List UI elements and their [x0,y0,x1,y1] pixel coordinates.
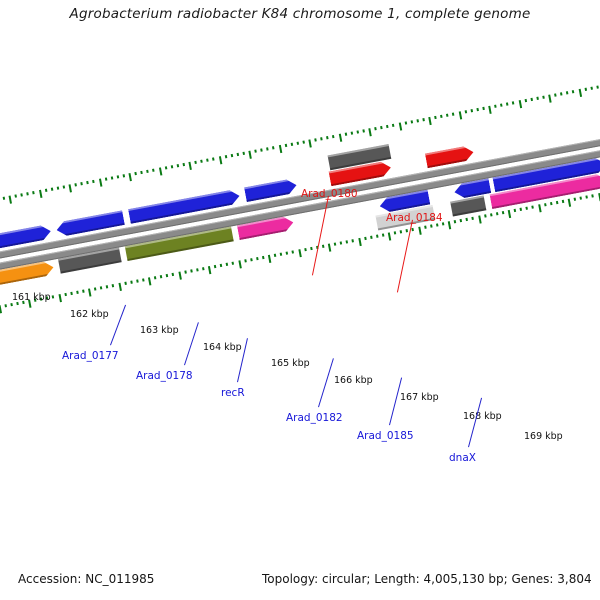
scale-label: 169 kbp [524,431,563,442]
tick-minor [310,247,313,250]
tick-minor [64,293,67,296]
tick-minor [45,189,48,192]
tick-major [478,216,481,224]
tick-major [298,249,301,257]
scale-label: 168 kbp [463,411,502,422]
tick-minor [172,273,175,276]
tick-minor [382,233,385,236]
tick-major [308,139,311,147]
tick-minor [404,121,407,124]
tick-minor [236,153,239,156]
tick-minor [160,275,163,278]
tick-major [118,283,121,291]
genome-track[interactable] [0,139,600,269]
tick-minor [122,174,125,177]
tick-minor [514,209,517,212]
tick-minor [142,278,145,281]
tick-minor [194,161,197,164]
tick-minor [116,175,119,178]
tick-major [328,244,331,252]
tick-minor [440,115,443,118]
tick-minor [430,224,433,227]
gene-label[interactable]: Arad_0182 [286,412,343,424]
scale-label: 167 kbp [400,392,439,403]
tick-minor [256,257,259,260]
tick-major [158,167,161,175]
tick-minor [380,126,383,129]
scale-label: 163 kbp [140,325,179,336]
tick-minor [376,235,379,238]
tick-minor [466,218,469,221]
tick-minor [242,152,245,155]
tick-minor [350,132,353,135]
tick-minor [110,176,113,179]
tick-minor [586,195,589,198]
gene-label-leader-line [110,305,126,345]
tick-minor [542,96,545,99]
tick-minor [572,90,575,93]
tick-minor [544,203,547,206]
tick-major [218,156,221,164]
tick-minor [154,276,157,279]
tick-minor [550,202,553,205]
tick-major [188,162,191,170]
tick-major [128,173,131,181]
tick-major [238,260,241,268]
tick-minor [80,182,83,185]
tick-major [368,128,371,136]
tick-minor [592,194,595,197]
tick-minor [280,253,283,256]
tick-minor [524,99,527,102]
tick-minor [304,248,307,251]
tick-minor [482,107,485,110]
tick-minor [184,270,187,273]
tick-minor [266,147,269,150]
tick-minor [176,164,179,167]
tick-major [578,89,581,97]
tick-minor [136,279,139,282]
tick-minor [496,212,499,215]
tick-minor [424,226,427,229]
tick-minor [590,87,593,90]
tick-minor [410,120,413,123]
tick-major [208,266,211,274]
tick-minor [86,181,89,184]
tick-minor [190,269,193,272]
page-title: Agrobacterium radiobacter K84 chromosome… [0,6,600,22]
tick-minor [302,140,305,143]
tick-major [338,134,341,142]
tick-minor [362,129,365,132]
tick-minor [596,86,599,89]
tick-minor [326,136,329,139]
tick-minor [494,105,497,108]
tick-minor [470,109,473,112]
tick-minor [206,158,209,161]
tick-minor [422,118,425,121]
tick-minor [166,274,169,277]
gene-label[interactable]: dnaX [449,452,476,464]
tick-minor [262,256,265,259]
tick-major [9,195,12,203]
tick-minor [130,281,133,284]
scale-label: 165 kbp [271,358,310,369]
tick-minor [92,180,95,183]
tick-minor [112,284,115,287]
tick-minor [352,239,355,242]
tick-minor [254,149,257,152]
tick-minor [584,88,587,91]
tick-minor [562,200,565,203]
tick-minor [232,262,235,265]
tick-minor [332,135,335,138]
tick-minor [164,166,167,169]
scale-label: 166 kbp [334,375,373,386]
gene-label[interactable]: recR [221,387,245,399]
tick-minor [170,165,173,168]
tick-major [388,232,391,240]
tick-minor [460,219,463,222]
tick-minor [244,259,247,262]
tick-minor [52,295,55,298]
tick-minor [526,207,529,210]
tick-major [278,145,281,153]
tick-minor [446,114,449,117]
tick-minor [314,138,317,141]
tick-major [458,111,461,119]
tick-major [398,123,401,131]
tick-major [488,106,491,114]
tick-minor [272,146,275,149]
tick-minor [220,264,223,267]
tick-minor [75,183,78,186]
tick-minor [82,290,85,293]
tick-minor [214,265,217,268]
tick-minor [290,143,293,146]
tick-major [418,227,421,235]
tick-minor [400,230,403,233]
tick-minor [556,201,559,204]
tick-minor [344,133,347,136]
tick-major [98,179,101,187]
tick-minor [182,163,185,166]
tick-major [88,288,91,296]
tick-minor [530,98,533,101]
tick-minor [334,242,337,245]
tick-minor [212,157,215,160]
tick-minor [320,137,323,140]
tick-minor [152,169,155,172]
tick-minor [502,211,505,214]
tick-major [39,190,42,198]
tick-minor [560,92,563,95]
gene-label-leader-line [184,322,199,365]
gene-label[interactable]: Arad_0185 [357,430,414,442]
tick-minor [554,93,557,96]
tick-minor [392,124,395,127]
tick-minor [57,186,60,189]
tick-minor [27,192,30,195]
tick-minor [370,236,373,239]
tick-minor [284,144,287,147]
tick-minor [202,267,205,270]
tick-minor [124,282,127,285]
tick-major [358,238,361,246]
tick-minor [70,292,73,295]
tick-minor [532,205,535,208]
tick-major [0,305,2,313]
gene-label-leader-line [318,358,334,407]
tick-minor [4,304,7,307]
gene-label-leader-line [468,398,482,447]
tick-minor [364,237,367,240]
scale-label: 162 kbp [70,309,109,320]
topology-label: Topology: circular; Length: 4,005,130 bp… [262,572,592,586]
tick-minor [406,229,409,232]
tick-minor [394,231,397,234]
tick-major [248,151,251,159]
tick-major [268,255,271,263]
tick-minor [506,102,509,105]
tick-minor [134,172,137,175]
tick-minor [296,142,299,145]
tick-major [538,204,541,212]
tick-minor [452,112,455,115]
tick-minor [374,127,377,130]
tick-minor [356,130,359,133]
tick-minor [3,197,6,200]
tick-major [69,184,72,192]
tick-major [428,117,431,125]
tick-minor [472,217,475,220]
tick-minor [106,285,109,288]
gene-label[interactable]: Arad_0184 [386,212,443,224]
tick-minor [520,208,523,211]
tick-minor [322,245,325,248]
tick-minor [416,119,419,122]
tick-minor [33,191,36,194]
tick-minor [196,268,199,271]
tick-minor [536,97,539,100]
tick-minor [63,185,66,188]
tick-minor [386,125,389,128]
tick-minor [346,240,349,243]
scale-label: 161 kbp [12,292,51,303]
tick-major [148,277,151,285]
tick-minor [230,154,233,157]
tick-minor [500,103,503,106]
tick-minor [140,171,143,174]
tick-major [548,94,551,102]
tick-major [448,221,451,229]
tick-major [508,210,511,218]
tick-minor [100,286,103,289]
tick-minor [454,220,457,223]
tick-minor [10,303,13,306]
tick-minor [94,287,97,290]
tick-minor [574,198,577,201]
tick-minor [566,91,569,94]
tick-major [518,100,521,108]
tick-minor [412,228,415,231]
tick-minor [146,170,149,173]
gene-label[interactable]: Arad_0178 [136,370,193,382]
tick-minor [580,196,583,199]
tick-minor [464,110,467,113]
tick-major [178,272,181,280]
tick-minor [226,263,229,266]
tick-major [58,294,61,302]
tick-minor [292,250,295,253]
tick-minor [15,194,18,197]
tick-minor [21,193,24,196]
tick-minor [260,148,263,151]
gene-label[interactable]: Arad_0180 [301,188,358,200]
accession-label: Accession: NC_011985 [18,572,154,586]
tick-minor [200,160,203,163]
scale-label: 164 kbp [203,342,242,353]
tick-minor [340,241,343,244]
tick-major [568,199,571,207]
tick-minor [51,188,54,191]
tick-minor [76,291,79,294]
gene-label[interactable]: Arad_0177 [62,350,119,362]
tick-minor [476,108,479,111]
tick-minor [104,178,107,181]
tick-minor [434,116,437,119]
tick-minor [490,213,493,216]
tick-minor [250,258,253,261]
tick-minor [286,251,289,254]
tick-minor [224,155,227,158]
tick-minor [274,254,277,257]
tick-minor [512,101,515,104]
tick-minor [484,214,487,217]
status-bar: Accession: NC_011985 Topology: circular;… [0,572,600,592]
